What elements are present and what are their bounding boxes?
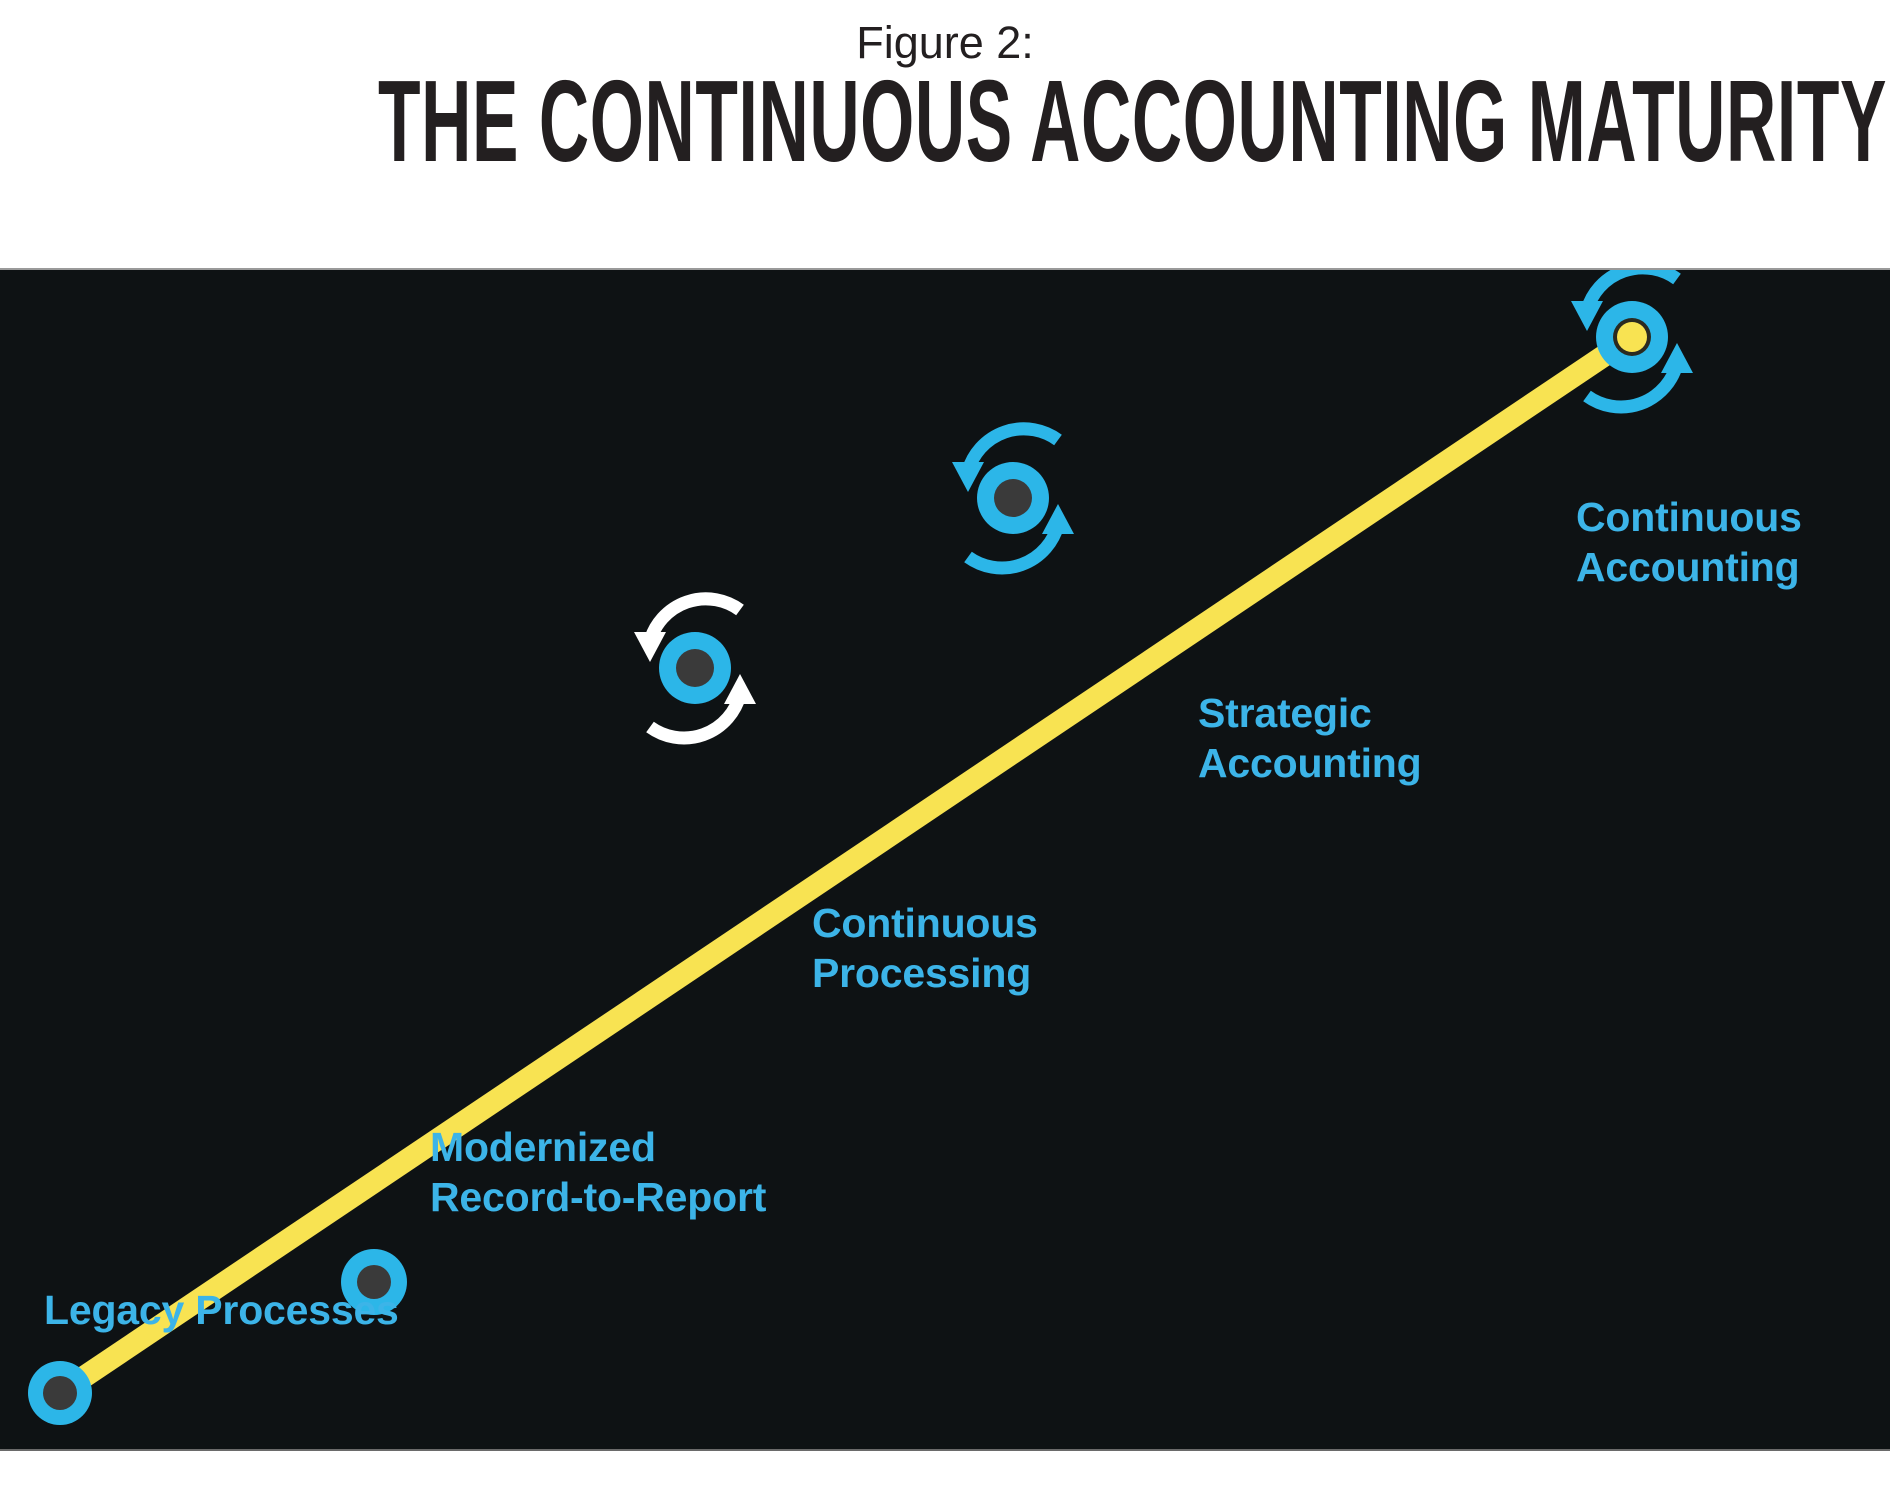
- progression-line: [60, 337, 1632, 1393]
- node-continuous-accounting[interactable]: [1571, 270, 1693, 407]
- stage-label-continuous-processing: Continuous Processing: [812, 898, 1038, 998]
- node-strategic-accounting[interactable]: [952, 429, 1074, 568]
- maturity-path-diagram: [0, 270, 1890, 1451]
- stage-label-strategic-accounting: Strategic Accounting: [1198, 688, 1421, 788]
- node-core-icon: [43, 1376, 77, 1410]
- stage-label-legacy-processes: Legacy Processes: [44, 1285, 399, 1335]
- stage-label-modernized-record-to-report: Modernized Record-to-Report: [430, 1122, 766, 1222]
- figure-header: Figure 2: THE CONTINUOUS ACCOUNTING MATU…: [0, 0, 1890, 266]
- node-core-icon: [1617, 322, 1647, 352]
- figure-title: THE CONTINUOUS ACCOUNTING MATURITY MODEL: [378, 62, 1512, 180]
- node-legacy-processes[interactable]: [28, 1361, 92, 1425]
- figure-page: Figure 2: THE CONTINUOUS ACCOUNTING MATU…: [0, 0, 1890, 1489]
- maturity-model-stage: Legacy Processes Modernized Record-to-Re…: [0, 268, 1890, 1451]
- node-continuous-processing[interactable]: [634, 599, 756, 738]
- node-core-icon: [676, 649, 714, 687]
- node-core-icon: [994, 479, 1032, 517]
- stage-label-continuous-accounting: Continuous Accounting: [1576, 492, 1802, 592]
